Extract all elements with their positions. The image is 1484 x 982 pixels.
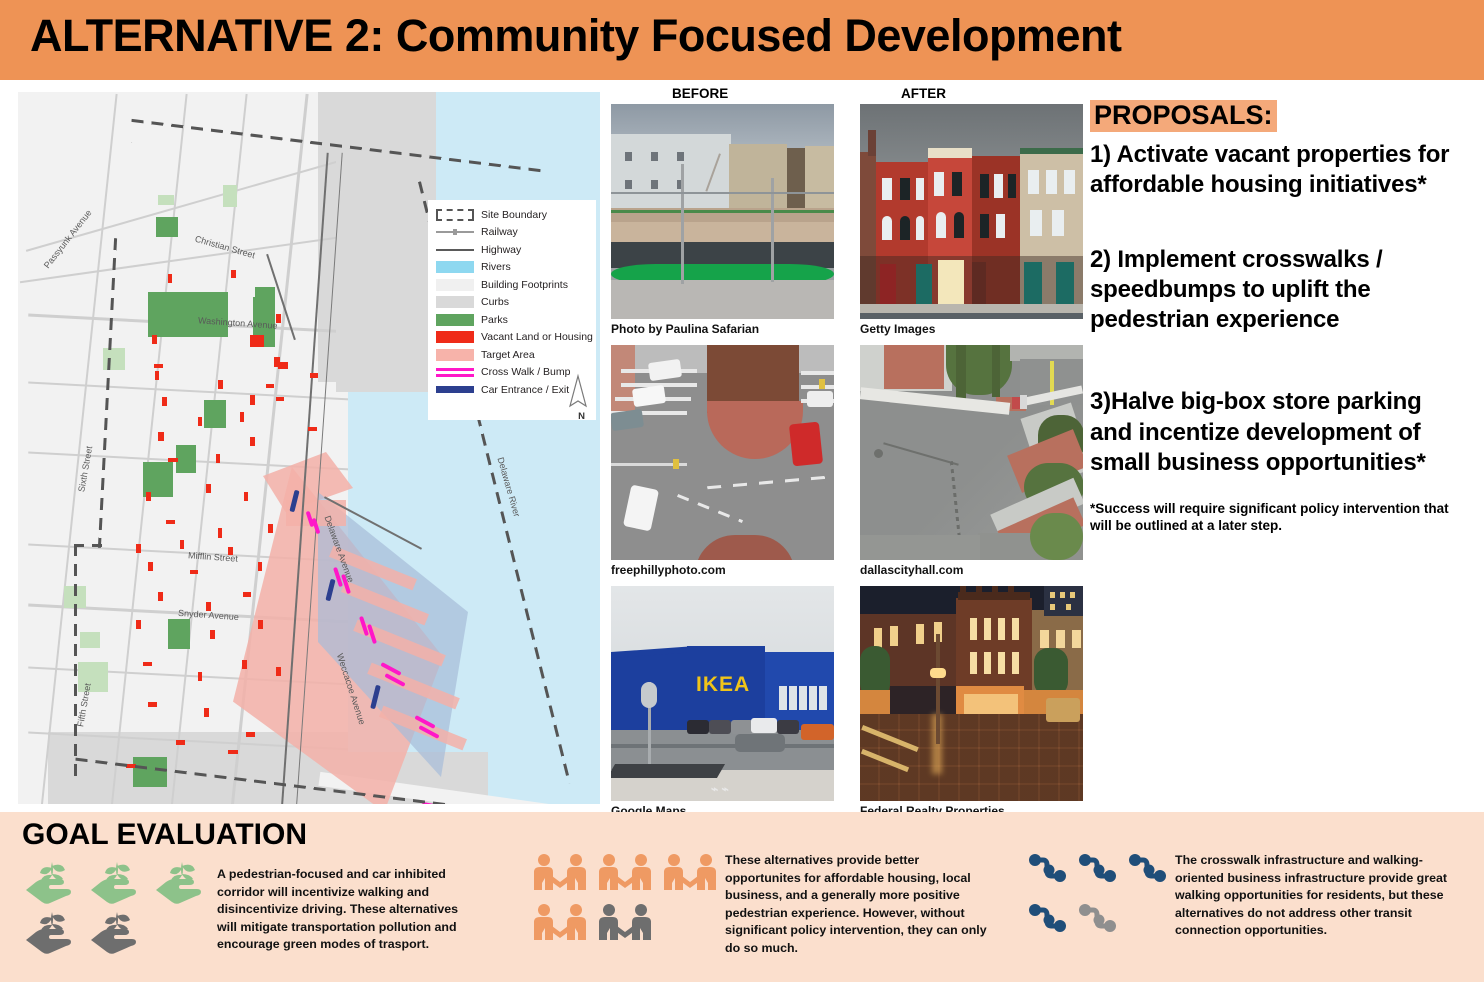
- legend-row: Building Footprints: [436, 276, 588, 294]
- goal-group-economy: These alternatives provide better opport…: [530, 850, 1000, 958]
- goal-description: A pedestrian-focused and car inhibited c…: [217, 858, 477, 958]
- handshake-people-icon: [595, 850, 660, 900]
- goal-group-transit: The crosswalk infrastructure and walking…: [1025, 850, 1484, 950]
- photo-ikea-big-box-store[interactable]: IKEA ⌁ ⌁: [611, 586, 834, 801]
- legend-swatch-railway: [436, 226, 474, 238]
- goal-rating-icons: [530, 850, 725, 958]
- map-park-light: [103, 348, 125, 370]
- photo-caption: Photo by Paulina Safarian: [611, 322, 834, 336]
- goal-rating-icons: [22, 858, 217, 958]
- legend-swatch-crosswalk: [436, 366, 474, 378]
- goal-description: The crosswalk infrastructure and walking…: [1175, 850, 1465, 950]
- legend-swatch-car-entrance: [436, 386, 474, 393]
- north-arrow-icon: [566, 372, 590, 416]
- photo-cell[interactable]: IKEA ⌁ ⌁ Google Maps: [611, 586, 834, 818]
- photo-caption: freephillyphoto.com: [611, 563, 834, 577]
- legend-swatch-site-boundary: [436, 209, 474, 221]
- legend-row: Target Area: [436, 346, 588, 364]
- hand-plant-icon: [22, 858, 87, 908]
- photo-cell[interactable]: Photo by Paulina Safarian: [611, 104, 834, 336]
- north-label: N: [578, 411, 585, 422]
- proposal-item-2: 2) Implement crosswalks / speedbumps to …: [1090, 245, 1470, 336]
- proposals-header: PROPOSALS:: [1090, 100, 1277, 132]
- legend-swatch-highway: [436, 244, 474, 256]
- goal-evaluation-title: GOAL EVALUATION: [22, 818, 307, 852]
- legend-label: Cross Walk / Bump: [481, 366, 570, 378]
- handshake-people-icon-inactive: [595, 900, 660, 950]
- photo-caption: Getty Images: [860, 322, 1083, 336]
- legend-swatch-rivers: [436, 261, 474, 273]
- hand-plant-icon-inactive: [87, 908, 152, 958]
- legend-row: Railway: [436, 224, 588, 242]
- proposal-item-3: 3)Halve big-box store parking and incent…: [1090, 387, 1470, 478]
- legend-swatch-building-footprints: [436, 279, 474, 291]
- legend-label: Site Boundary: [481, 209, 547, 221]
- legend-row: Rivers: [436, 259, 588, 277]
- legend-label: Target Area: [481, 349, 535, 361]
- goal-group-environment: A pedestrian-focused and car inhibited c…: [22, 858, 502, 958]
- legend-label: Curbs: [481, 296, 509, 308]
- legend-row: Vacant Land or Housing: [436, 329, 588, 347]
- map-legend: Site Boundary Railway Highway Rivers Bui…: [428, 200, 596, 420]
- site-boundary-jog: [74, 544, 110, 547]
- transit-connection-icon-inactive: [1075, 900, 1125, 950]
- transit-connection-icon: [1125, 850, 1175, 900]
- goal-rating-icons: [1025, 850, 1175, 950]
- transit-connection-icon: [1025, 850, 1075, 900]
- photo-cell[interactable]: Federal Realty Properties: [860, 586, 1083, 818]
- page-title: ALTERNATIVE 2: Community Focused Develop…: [30, 10, 1121, 62]
- column-header-before: BEFORE: [672, 86, 728, 101]
- ikea-sign-text: IKEA: [696, 674, 774, 696]
- legend-label: Parks: [481, 314, 508, 326]
- goal-description: These alternatives provide better opport…: [725, 850, 990, 958]
- transit-connection-icon: [1075, 850, 1125, 900]
- handshake-people-icon: [530, 900, 595, 950]
- proposals-footnote: *Success will require significant policy…: [1090, 500, 1470, 535]
- goal-evaluation-band: GOAL EVALUATION: [0, 812, 1484, 982]
- legend-label: Car Entrance / Exit: [481, 384, 569, 396]
- photo-night-main-street[interactable]: [860, 586, 1083, 801]
- photo-caption: dallascityhall.com: [860, 563, 1083, 577]
- photo-vacant-lot-rubble[interactable]: [611, 104, 834, 319]
- legend-row: Highway: [436, 241, 588, 259]
- photo-cell[interactable]: freephillyphoto.com: [611, 345, 834, 577]
- photo-cell[interactable]: Getty Images: [860, 104, 1083, 336]
- hand-plant-icon-inactive: [22, 908, 87, 958]
- poster-header: ALTERNATIVE 2: Community Focused Develop…: [0, 0, 1484, 80]
- legend-swatch-curbs: [436, 296, 474, 308]
- photo-cell[interactable]: dallascityhall.com: [860, 345, 1083, 577]
- photo-rowhouse-facades[interactable]: [860, 104, 1083, 319]
- column-header-after: AFTER: [901, 86, 946, 101]
- photo-wide-road-intersection[interactable]: [611, 345, 834, 560]
- map-park: [133, 757, 167, 787]
- legend-row: Parks: [436, 311, 588, 329]
- transit-connection-icon: [1025, 900, 1075, 950]
- legend-label: Vacant Land or Housing: [481, 331, 593, 343]
- site-map: Passyunk Avenue Christian Street Washing…: [18, 92, 600, 804]
- handshake-people-icon: [660, 850, 725, 900]
- proposal-item-1: 1) Activate vacant properties for afford…: [1090, 140, 1470, 200]
- legend-swatch-parks: [436, 314, 474, 326]
- proposals-panel: PROPOSALS: 1) Activate vacant properties…: [1090, 100, 1470, 535]
- hand-plant-icon: [87, 858, 152, 908]
- legend-row: Curbs: [436, 294, 588, 312]
- legend-swatch-target-area: [436, 349, 474, 361]
- site-boundary-west-lower: [74, 544, 77, 784]
- legend-label: Highway: [481, 244, 521, 256]
- legend-label: Building Footprints: [481, 279, 568, 291]
- legend-swatch-vacant: [436, 331, 474, 343]
- legend-label: Railway: [481, 226, 518, 238]
- photo-crosswalk-median-intersection[interactable]: [860, 345, 1083, 560]
- handshake-people-icon: [530, 850, 595, 900]
- before-after-photo-grid: BEFORE AFTER Photo by Paulina: [611, 92, 1083, 808]
- hand-plant-icon: [152, 858, 217, 908]
- legend-row: Site Boundary: [436, 206, 588, 224]
- legend-label: Rivers: [481, 261, 511, 273]
